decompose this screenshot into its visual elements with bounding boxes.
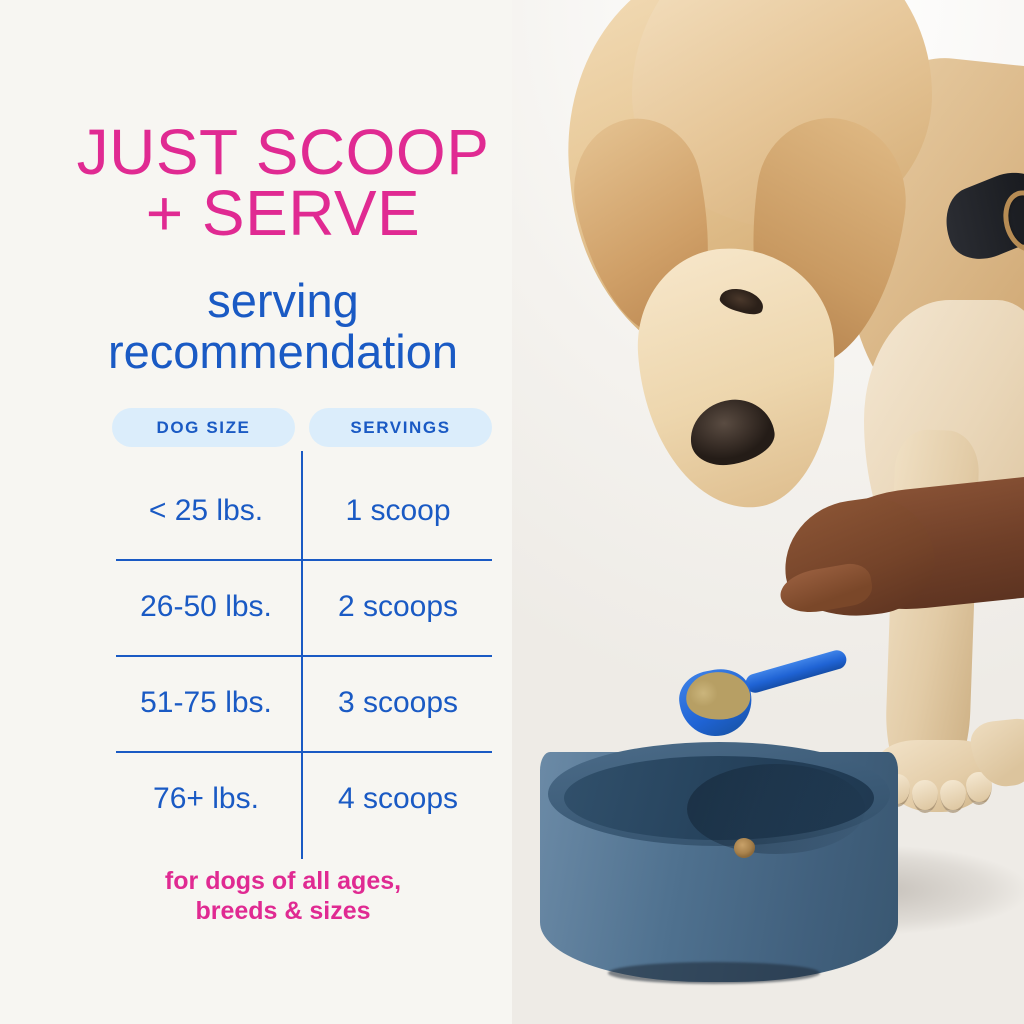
table-row: < 25 lbs. 1 scoop: [112, 463, 492, 559]
cell-dog-size: < 25 lbs.: [112, 496, 304, 526]
table-body: < 25 lbs. 1 scoop 26-50 lbs. 2 scoops 51…: [112, 463, 492, 847]
paw-toe: [912, 780, 938, 813]
table-row: 76+ lbs. 4 scoops: [112, 751, 492, 847]
serving-recommendation-infographic: JUST SCOOP + SERVE serving recommendatio…: [0, 0, 1024, 1024]
column-header-dog-size: DOG SIZE: [112, 408, 295, 447]
paw-toe: [940, 780, 966, 813]
text-column: JUST SCOOP + SERVE serving recommendatio…: [0, 0, 560, 1024]
footnote-text: for dogs of all ages, breeds & sizes: [28, 866, 538, 926]
scoop-handle: [743, 648, 848, 695]
product-photo: [512, 0, 1024, 1024]
cell-servings: 4 scoops: [304, 784, 492, 814]
cell-servings: 1 scoop: [304, 496, 492, 526]
cell-dog-size: 76+ lbs.: [112, 784, 304, 814]
cell-dog-size: 51-75 lbs.: [112, 688, 304, 718]
dog-bowl-shadow: [687, 764, 865, 854]
cell-dog-size: 26-50 lbs.: [112, 592, 304, 622]
table-row: 26-50 lbs. 2 scoops: [112, 559, 492, 655]
page-title: JUST SCOOP + SERVE: [28, 122, 538, 245]
dog-bowl-base-shadow: [608, 962, 820, 984]
column-header-servings: SERVINGS: [309, 408, 492, 447]
table-row: 51-75 lbs. 3 scoops: [112, 655, 492, 751]
subtitle: serving recommendation: [28, 276, 538, 378]
table-header-row: DOG SIZE SERVINGS: [112, 408, 492, 447]
cell-servings: 3 scoops: [304, 688, 492, 718]
serving-table: DOG SIZE SERVINGS < 25 lbs. 1 scoop 26-5…: [112, 408, 492, 847]
cell-servings: 2 scoops: [304, 592, 492, 622]
